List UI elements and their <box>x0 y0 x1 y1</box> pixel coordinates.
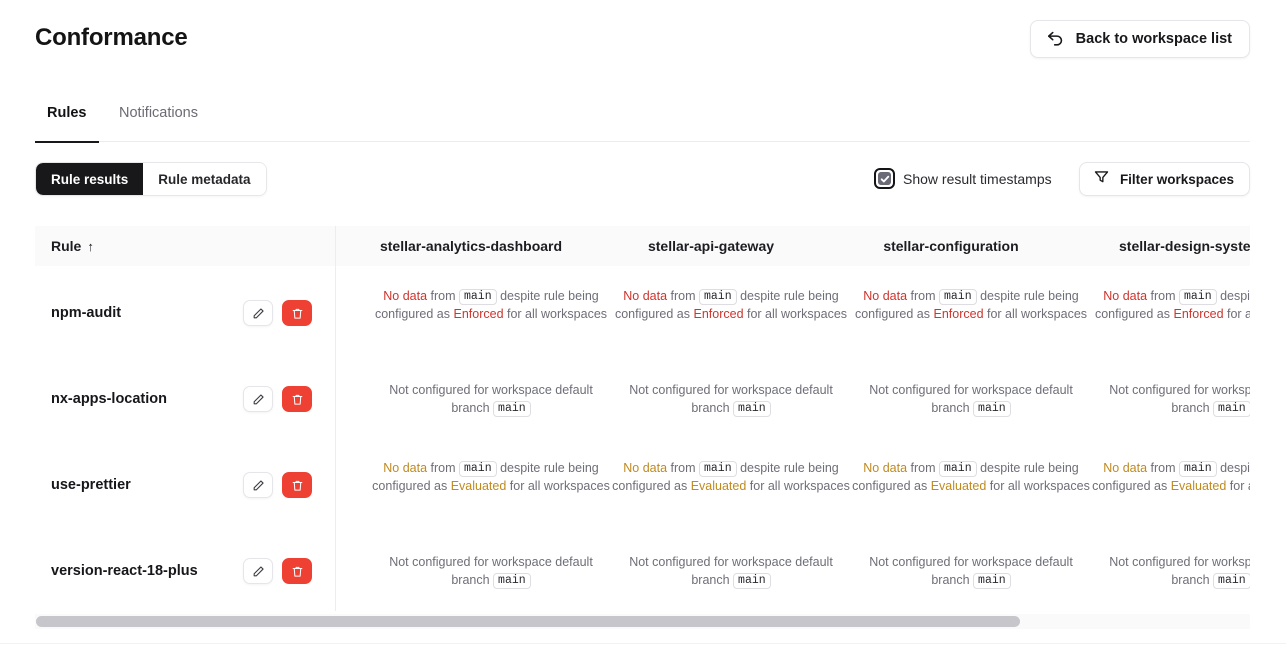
view-mode-segmented-control: Rule results Rule metadata <box>35 162 267 196</box>
branch-chip: main <box>733 573 771 589</box>
result-text: Not configured for workspace default bra… <box>389 383 593 415</box>
result-text: Not configured for workspace default bra… <box>869 555 1073 587</box>
branch-chip: main <box>1213 401 1250 417</box>
rule-name: version-react-18-plus <box>51 563 198 579</box>
rule-state: Evaluated <box>691 479 747 493</box>
edit-rule-button[interactable] <box>243 472 273 498</box>
trash-icon <box>291 307 304 320</box>
edit-rule-button[interactable] <box>243 386 273 412</box>
rule-name-cell: use-prettier <box>51 465 131 505</box>
rule-name: use-prettier <box>51 477 131 493</box>
result-text: from <box>427 289 459 303</box>
result-text: for all workspaces <box>986 479 1090 493</box>
horizontal-scrollbar-track[interactable] <box>35 614 1250 629</box>
delete-rule-button[interactable] <box>282 386 312 412</box>
checkbox-focus-ring <box>874 168 895 189</box>
tab-rules-label: Rules <box>47 105 87 121</box>
result-status: No data <box>1103 461 1147 475</box>
result-text: from <box>1147 461 1179 475</box>
result-cell: Not configured for workspace default bra… <box>371 382 611 417</box>
result-status: No data <box>863 461 907 475</box>
branch-chip: main <box>973 401 1011 417</box>
result-cell: No data from main despite rule being con… <box>851 288 1091 323</box>
trash-icon <box>291 565 304 578</box>
sort-ascending-icon: ↑ <box>87 239 94 254</box>
undo-arrow-icon <box>1046 27 1065 51</box>
column-header-label: stellar-api-gateway <box>648 238 774 254</box>
result-cell: No data from main despite rule being con… <box>1091 460 1250 495</box>
rule-state: Enforced <box>1173 307 1223 321</box>
check-icon <box>880 174 890 184</box>
branch-chip: main <box>1213 573 1250 589</box>
column-header-stellar-configuration[interactable]: stellar-configuration <box>831 226 1071 266</box>
result-status: No data <box>863 289 907 303</box>
result-text: from <box>907 289 939 303</box>
delete-rule-button[interactable] <box>282 558 312 584</box>
result-cell: Not configured for workspace default bra… <box>1091 554 1250 589</box>
tab-notifications[interactable]: Notifications <box>119 104 198 142</box>
result-cell: Not configured for workspace default bra… <box>611 382 851 417</box>
rule-actions <box>243 386 312 412</box>
rule-name-cell: npm-audit <box>51 293 121 333</box>
result-cell: Not configured for workspace default bra… <box>851 382 1091 417</box>
page-title: Conformance <box>35 24 188 52</box>
pencil-icon <box>252 565 265 578</box>
result-text: from <box>907 461 939 475</box>
rule-state: Enforced <box>933 307 983 321</box>
trash-icon <box>291 479 304 492</box>
show-result-timestamps-checkbox[interactable]: Show result timestamps <box>874 168 1052 189</box>
result-status: No data <box>623 461 667 475</box>
table-header-row: Rule ↑ stellar-analytics-dashboard stell… <box>35 226 1250 266</box>
result-cell: No data from main despite rule being con… <box>851 460 1091 495</box>
rule-name-cell: nx-apps-location <box>51 379 167 419</box>
pencil-icon <box>252 479 265 492</box>
result-text: Not configured for workspace default bra… <box>629 383 833 415</box>
tab-rules[interactable]: Rules <box>47 104 87 142</box>
footer-divider <box>0 643 1286 644</box>
rule-column-divider <box>335 226 336 611</box>
branch-chip: main <box>733 401 771 417</box>
result-text: for all workspaces <box>984 307 1088 321</box>
rule-state: Evaluated <box>451 479 507 493</box>
edit-rule-button[interactable] <box>243 300 273 326</box>
result-text: from <box>1147 289 1179 303</box>
result-cell: Not configured for workspace default bra… <box>371 554 611 589</box>
rule-actions <box>243 558 312 584</box>
back-button-label: Back to workspace list <box>1076 31 1232 47</box>
rule-state: Evaluated <box>1171 479 1227 493</box>
filter-workspaces-button[interactable]: Filter workspaces <box>1079 162 1250 196</box>
rule-name: nx-apps-location <box>51 391 167 407</box>
pencil-icon <box>252 307 265 320</box>
result-cell: Not configured for workspace default bra… <box>611 554 851 589</box>
page-header: Conformance Back to workspace list <box>0 0 1286 78</box>
result-cell: No data from main despite rule being con… <box>611 288 851 323</box>
column-header-rule-label: Rule <box>51 238 81 254</box>
branch-chip: main <box>973 573 1011 589</box>
rule-state: Evaluated <box>931 479 987 493</box>
horizontal-scrollbar-thumb[interactable] <box>36 616 1020 627</box>
branch-chip: main <box>939 289 977 305</box>
result-text: for all workspaces <box>744 307 848 321</box>
edit-rule-button[interactable] <box>243 558 273 584</box>
result-text: for all workspaces <box>504 307 608 321</box>
result-cell: No data from main despite rule being con… <box>371 460 611 495</box>
column-header-label: stellar-design-system <box>1119 238 1250 254</box>
result-text: for all workspaces <box>1224 307 1250 321</box>
checkbox-box-checked <box>878 172 891 185</box>
rule-state: Enforced <box>453 307 503 321</box>
result-text: for all workspaces <box>506 479 610 493</box>
result-status: No data <box>623 289 667 303</box>
result-cell: Not configured for workspace default bra… <box>851 554 1091 589</box>
rule-name-cell: version-react-18-plus <box>51 551 198 591</box>
segment-rule-metadata[interactable]: Rule metadata <box>143 163 265 195</box>
result-text: from <box>667 289 699 303</box>
result-text: from <box>427 461 459 475</box>
segment-rule-results-label: Rule results <box>51 172 128 187</box>
result-text: from <box>667 461 699 475</box>
branch-chip: main <box>493 573 531 589</box>
result-cell: No data from main despite rule being con… <box>611 460 851 495</box>
branch-chip: main <box>1179 461 1217 477</box>
rule-name: npm-audit <box>51 305 121 321</box>
segment-rule-results[interactable]: Rule results <box>36 163 143 195</box>
delete-rule-button[interactable] <box>282 300 312 326</box>
branch-chip: main <box>699 289 737 305</box>
result-status: No data <box>1103 289 1147 303</box>
column-header-stellar-analytics-dashboard[interactable]: stellar-analytics-dashboard <box>351 226 591 266</box>
rule-actions <box>243 472 312 498</box>
pencil-icon <box>252 393 265 406</box>
result-cell: Not configured for workspace default bra… <box>1091 382 1250 417</box>
result-cell: No data from main despite rule being con… <box>371 288 611 323</box>
branch-chip: main <box>939 461 977 477</box>
tab-bar: Rules Notifications <box>35 104 1250 142</box>
column-header-rule[interactable]: Rule ↑ <box>51 226 94 266</box>
column-header-stellar-api-gateway[interactable]: stellar-api-gateway <box>591 226 831 266</box>
result-cell: No data from main despite rule being con… <box>1091 288 1250 323</box>
back-to-workspace-list-button[interactable]: Back to workspace list <box>1030 20 1250 58</box>
result-status: No data <box>383 289 427 303</box>
result-text: Not configured for workspace default bra… <box>629 555 833 587</box>
branch-chip: main <box>1179 289 1217 305</box>
branch-chip: main <box>493 401 531 417</box>
rule-actions <box>243 300 312 326</box>
result-text: for all workspaces <box>1226 479 1250 493</box>
conformance-page: Conformance Back to workspace list Rules… <box>0 0 1286 667</box>
result-text: for all workspaces <box>746 479 850 493</box>
branch-chip: main <box>459 289 497 305</box>
tab-notifications-label: Notifications <box>119 105 198 121</box>
rule-results-table: Rule ↑ stellar-analytics-dashboard stell… <box>35 226 1250 611</box>
trash-icon <box>291 393 304 406</box>
result-text: Not configured for workspace default bra… <box>389 555 593 587</box>
branch-chip: main <box>699 461 737 477</box>
rule-state: Enforced <box>693 307 743 321</box>
result-status: No data <box>383 461 427 475</box>
segment-rule-metadata-label: Rule metadata <box>158 172 250 187</box>
column-header-label: stellar-analytics-dashboard <box>380 238 562 254</box>
branch-chip: main <box>459 461 497 477</box>
delete-rule-button[interactable] <box>282 472 312 498</box>
funnel-icon <box>1093 168 1110 190</box>
show-result-timestamps-label: Show result timestamps <box>903 171 1052 187</box>
column-header-stellar-design-system[interactable]: stellar-design-system <box>1071 226 1250 266</box>
result-text: Not configured for workspace default bra… <box>869 383 1073 415</box>
column-header-label: stellar-configuration <box>883 238 1018 254</box>
filter-workspaces-label: Filter workspaces <box>1120 172 1234 187</box>
